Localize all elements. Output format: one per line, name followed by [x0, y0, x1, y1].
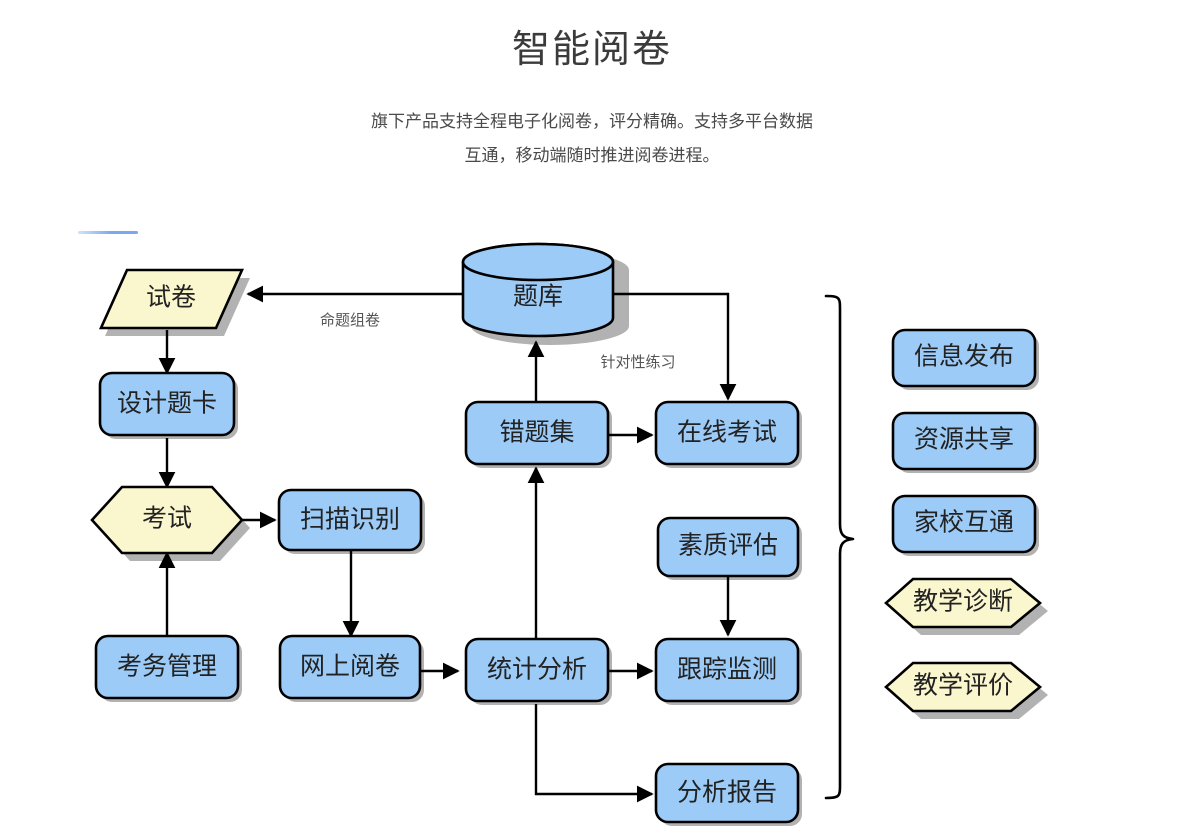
node-shijuan-label: 试卷: [146, 284, 196, 312]
node-tiku-label: 题库: [513, 283, 563, 311]
node-cuotiji[interactable]: 错题集: [466, 402, 612, 468]
node-jiaoxue-pingjia-label: 教学评价: [913, 672, 1013, 700]
node-saomiao-shibie[interactable]: 扫描识别: [279, 490, 425, 554]
node-kaoshi-label: 考试: [142, 505, 192, 533]
node-genzong-jiance[interactable]: 跟踪监测: [656, 639, 802, 705]
page-title: 智能阅卷: [0, 26, 1184, 75]
page-header: 智能阅卷 旗下产品支持全程电子化阅卷，评分精确。支持多平台数据 互通，移动端随时…: [0, 0, 1184, 173]
subtitle-line-1: 旗下产品支持全程电子化阅卷，评分精确。支持多平台数据: [297, 105, 887, 139]
node-zaixian-kaoshi-label: 在线考试: [677, 419, 777, 447]
node-layer: 试卷 设计题卡 考试 考务管理: [92, 244, 1048, 826]
node-tongji-fenxi-label: 统计分析: [487, 656, 587, 684]
node-tongji-fenxi[interactable]: 统计分析: [466, 639, 612, 705]
node-jiaoxue-pingjia[interactable]: 教学评价: [886, 663, 1048, 719]
page-root: 智能阅卷 旗下产品支持全程电子化阅卷，评分精确。支持多平台数据 互通，移动端随时…: [0, 0, 1184, 835]
node-cuotiji-label: 错题集: [499, 419, 574, 447]
flowchart-svg: 试卷 设计题卡 考试 考务管理: [0, 236, 1184, 835]
node-xinxi-fabu-label: 信息发布: [914, 343, 1014, 371]
node-genzong-jiance-label: 跟踪监测: [677, 656, 777, 684]
node-tiku[interactable]: 题库: [463, 244, 629, 345]
node-wangshang-yuejuan[interactable]: 网上阅卷: [280, 636, 424, 702]
node-fenxi-baogao[interactable]: 分析报告: [656, 764, 802, 826]
node-shijuan[interactable]: 试卷: [101, 270, 250, 336]
node-suzhi-pinggu[interactable]: 素质评估: [658, 518, 802, 580]
edge-label-zhenduixing-lianxi: 针对性练习: [600, 354, 675, 371]
node-kaowu-guanli[interactable]: 考务管理: [96, 636, 242, 702]
node-jiaoxue-zhenduan-label: 教学诊断: [913, 588, 1013, 616]
node-jiaoxue-zhenduan[interactable]: 教学诊断: [886, 579, 1048, 635]
node-ziyuan-gongxiang[interactable]: 资源共享: [893, 413, 1039, 473]
flowchart-diagram: 试卷 设计题卡 考试 考务管理: [0, 236, 1184, 835]
node-fenxi-baogao-label: 分析报告: [677, 779, 777, 807]
node-sheji-tika[interactable]: 设计题卡: [100, 373, 238, 439]
edge-label-mingti-zujuan: 命题组卷: [320, 311, 380, 329]
node-kaoshi[interactable]: 考试: [92, 487, 250, 561]
node-wangshang-yuejuan-label: 网上阅卷: [300, 653, 400, 681]
node-sheji-tika-label: 设计题卡: [117, 390, 217, 418]
accent-rule-divider: [78, 231, 138, 234]
node-zaixian-kaoshi[interactable]: 在线考试: [656, 402, 802, 468]
node-suzhi-pinggu-label: 素质评估: [678, 532, 778, 560]
brace-path: [826, 296, 853, 798]
node-kaowu-guanli-label: 考务管理: [117, 653, 217, 681]
grouping-brace: [826, 296, 853, 798]
node-xinxi-fabu[interactable]: 信息发布: [893, 330, 1039, 390]
subtitle-line-2: 互通，移动端随时推进阅卷进程。: [297, 139, 887, 173]
node-ziyuan-gongxiang-label: 资源共享: [914, 426, 1014, 454]
page-subtitle: 旗下产品支持全程电子化阅卷，评分精确。支持多平台数据 互通，移动端随时推进阅卷进…: [297, 105, 887, 173]
node-jiaxiao-hutong-label: 家校互通: [914, 509, 1014, 537]
edge-tiku-to-zaixiankaoshi: [613, 294, 728, 399]
edge-tongjifenxi-to-fenxibaogao: [536, 704, 652, 794]
node-tiku-top: [463, 244, 613, 280]
node-jiaxiao-hutong[interactable]: 家校互通: [893, 496, 1039, 556]
node-saomiao-shibie-label: 扫描识别: [300, 506, 400, 534]
